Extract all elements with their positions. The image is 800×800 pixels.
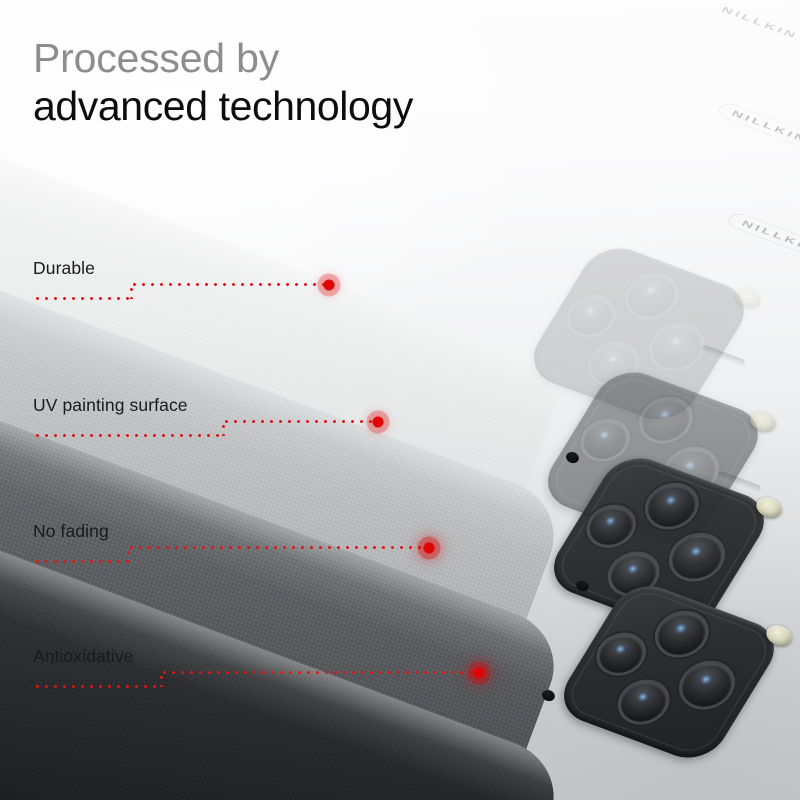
callout-label: Durable (33, 258, 95, 279)
camera-module (535, 363, 771, 553)
callout-label: No fading (33, 521, 109, 542)
camera-lens (640, 479, 705, 533)
camera-lens (663, 529, 731, 585)
camera-lens (583, 338, 645, 389)
camera-lens (582, 502, 641, 551)
callout-label: UV painting surface (33, 395, 188, 416)
callout-riser-dots (130, 285, 133, 299)
camera-module (551, 577, 787, 767)
callout-marker (324, 280, 335, 291)
camera-lens (620, 269, 685, 323)
phone-case-dark-gray (0, 367, 569, 800)
product-feature-banner: NILLKIN NILLKIN NILLKIN (0, 0, 800, 800)
camera-lens (613, 676, 675, 727)
speaker-hole (540, 688, 556, 703)
case-body (0, 367, 569, 800)
case-shadow (0, 433, 525, 781)
callout-riser-dots (160, 673, 163, 687)
case-texture (0, 104, 569, 651)
headline-line-1: Processed by (33, 38, 413, 79)
case-shadow (0, 563, 525, 800)
camera-flash (763, 622, 794, 649)
callout-underline-dots (33, 560, 128, 563)
camera-lens (643, 319, 711, 375)
button-cutout (700, 344, 746, 368)
case-edge-shadow (0, 436, 495, 785)
callout-underline-dots (33, 297, 131, 300)
headline: Processed by advanced technology (33, 38, 413, 127)
case-edge-shadow (0, 696, 495, 800)
camera-lens (634, 393, 699, 447)
callout-underline-dots (33, 685, 161, 688)
callout-leader-dots (130, 283, 328, 286)
camera-module (541, 449, 777, 639)
camera-plate (531, 247, 747, 420)
camera-plate (561, 585, 777, 758)
case-shadow (0, 303, 525, 651)
microphone-hole (574, 578, 590, 593)
callout-leader-dots (127, 546, 428, 549)
callout-marker (424, 543, 435, 554)
callout-label: Antioxidative (33, 646, 134, 667)
button-cutout (716, 470, 762, 494)
case-body (0, 104, 569, 651)
camera-flash (747, 408, 778, 435)
camera-lens (592, 630, 651, 679)
phone-case-white (0, 104, 569, 651)
camera-lens (650, 607, 715, 661)
camera-lens (603, 548, 665, 599)
microphone-hole (564, 450, 580, 465)
case-texture (0, 367, 569, 800)
callout-leader-dots (222, 420, 377, 423)
camera-module (521, 239, 757, 429)
camera-plate (545, 371, 761, 544)
camera-lens (597, 462, 659, 513)
camera-lens (576, 416, 635, 465)
callout-marker (373, 417, 384, 428)
phone-case-gray (0, 237, 569, 784)
camera-lens (673, 657, 741, 713)
camera-flash (732, 284, 763, 311)
brand-emboss: NILLKIN (725, 211, 800, 262)
case-texture (0, 237, 569, 784)
brand-emboss: NILLKIN (715, 101, 800, 152)
case-edge-shadow (0, 303, 495, 652)
camera-lens (562, 292, 621, 341)
camera-plate (551, 457, 767, 630)
camera-lens (657, 443, 725, 499)
case-edge-shadow (0, 566, 495, 800)
headline-line-2: advanced technology (33, 86, 413, 127)
case-body (0, 237, 569, 784)
callout-marker (474, 668, 485, 679)
callout-underline-dots (33, 434, 223, 437)
brand-emboss: NILLKIN (705, 0, 800, 48)
callout-riser-dots (222, 422, 225, 436)
camera-flash (753, 494, 784, 521)
callout-leader-dots (160, 671, 478, 674)
callout-riser-dots (127, 548, 130, 562)
